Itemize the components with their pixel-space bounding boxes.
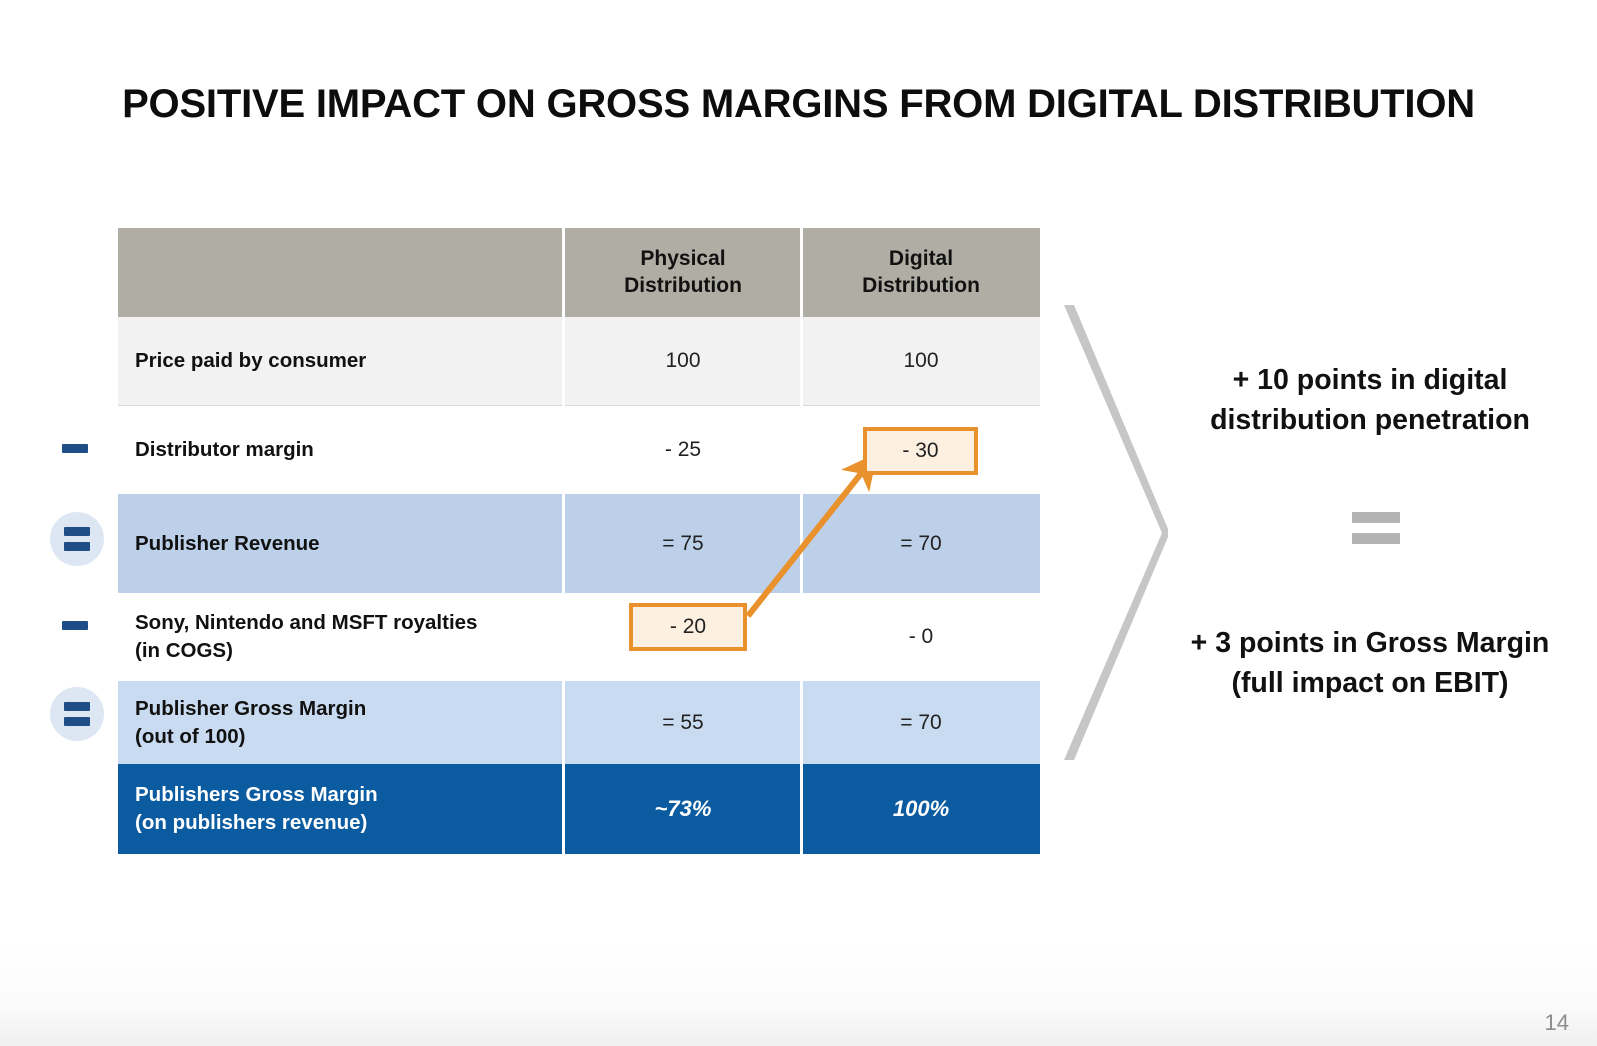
callout-digital-distributor-margin: - 30	[863, 427, 978, 475]
row-label-royalties-line2: (in COGS)	[135, 637, 564, 665]
row-label-distributor-margin: Distributor margin	[118, 406, 564, 495]
row-value-distributor-margin-physical: - 25	[564, 406, 802, 495]
row-label-publishers-gross-margin-pct: Publishers Gross Margin (on publishers r…	[118, 764, 564, 854]
row-value-price-paid-digital: 100	[802, 317, 1040, 406]
row-value-pgmp-digital: 100%	[802, 764, 1040, 854]
page-title: POSITIVE IMPACT ON GROSS MARGINS FROM DI…	[0, 82, 1597, 127]
callout-physical-royalties: - 20	[629, 603, 747, 651]
row-label-price-paid: Price paid by consumer	[118, 317, 564, 406]
table-header-row: Physical Distribution Digital Distributi…	[118, 228, 1040, 317]
table-row: Price paid by consumer 100 100	[118, 317, 1040, 406]
operator-equals-publisher-gross-margin	[50, 687, 104, 741]
equals-bar-bottom	[1352, 533, 1400, 544]
conclusion-top: + 10 points in digital distribution pene…	[1160, 360, 1580, 441]
equals-bar-top	[1352, 512, 1400, 523]
table-row: Publisher Gross Margin (out of 100) = 55…	[118, 681, 1040, 764]
row-value-pgm-digital: = 70	[802, 681, 1040, 764]
row-label-royalties-line1: Sony, Nintendo and MSFT royalties	[135, 609, 564, 637]
header-digital-line2: Distribution	[802, 273, 1040, 299]
conclusion-bottom-line1: + 3 points in Gross Margin	[1150, 623, 1590, 663]
row-label-pgmp-line2: (on publishers revenue)	[135, 809, 564, 837]
header-physical-line2: Distribution	[564, 273, 802, 299]
margin-comparison-table: Physical Distribution Digital Distributi…	[118, 228, 1040, 854]
row-label-pgm-line1: Publisher Gross Margin	[135, 695, 564, 723]
row-label-pgmp-line1: Publishers Gross Margin	[135, 781, 564, 809]
table-row: Publishers Gross Margin (on publishers r…	[118, 764, 1040, 854]
row-value-publisher-revenue-digital: = 70	[802, 494, 1040, 593]
header-cell-blank	[118, 228, 564, 317]
header-digital-line1: Digital	[802, 246, 1040, 272]
header-cell-digital: Digital Distribution	[802, 228, 1040, 317]
equals-bar-top	[64, 702, 90, 711]
row-label-publisher-revenue: Publisher Revenue	[118, 494, 564, 593]
row-value-pgm-physical: = 55	[564, 681, 802, 764]
equals-bar-bottom	[64, 717, 90, 726]
slide-canvas: POSITIVE IMPACT ON GROSS MARGINS FROM DI…	[0, 0, 1597, 1046]
page-number: 14	[1545, 1010, 1569, 1036]
row-value-pgmp-physical: ~73%	[564, 764, 802, 854]
equals-symbol-icon	[1352, 512, 1400, 544]
header-cell-physical: Physical Distribution	[564, 228, 802, 317]
chevron-right-icon	[1058, 305, 1168, 760]
conclusion-bottom: + 3 points in Gross Margin (full impact …	[1150, 623, 1590, 704]
row-value-royalties-digital: - 0	[802, 593, 1040, 681]
table-row: Sony, Nintendo and MSFT royalties (in CO…	[118, 593, 1040, 681]
header-physical-line1: Physical	[564, 246, 802, 272]
operator-minus-distributor-margin	[62, 444, 88, 453]
equals-bar-top	[64, 527, 90, 536]
row-label-pgm-line2: (out of 100)	[135, 723, 564, 751]
conclusion-top-line2: distribution penetration	[1160, 400, 1580, 440]
conclusion-bottom-line2: (full impact on EBIT)	[1150, 663, 1590, 703]
row-label-royalties: Sony, Nintendo and MSFT royalties (in CO…	[118, 593, 564, 681]
row-value-publisher-revenue-physical: = 75	[564, 494, 802, 593]
operator-minus-royalties	[62, 621, 88, 630]
conclusion-top-line1: + 10 points in digital	[1160, 360, 1580, 400]
operator-equals-publisher-revenue	[50, 512, 104, 566]
row-label-publisher-gross-margin: Publisher Gross Margin (out of 100)	[118, 681, 564, 764]
table-row: Publisher Revenue = 75 = 70	[118, 494, 1040, 593]
row-value-price-paid-physical: 100	[564, 317, 802, 406]
equals-bar-bottom	[64, 542, 90, 551]
